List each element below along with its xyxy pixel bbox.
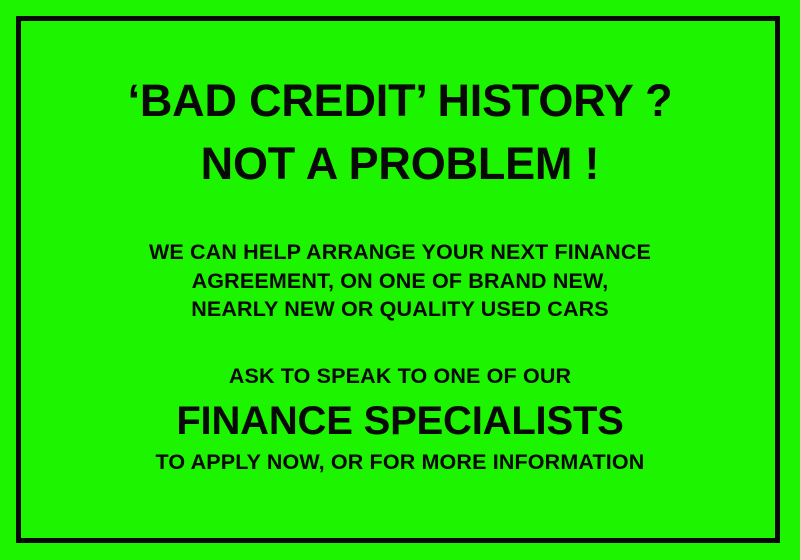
advertisement-poster: ‘BAD CREDIT’ HISTORY ? NOT A PROBLEM ! W… <box>0 0 800 560</box>
headline-line-2: NOT A PROBLEM ! <box>201 141 600 186</box>
body-line-2: AGREEMENT, ON ONE OF BRAND NEW, <box>192 271 609 293</box>
headline-line-1: ‘BAD CREDIT’ HISTORY ? <box>128 78 673 123</box>
body-line-3: NEARLY NEW OR QUALITY USED CARS <box>191 299 609 321</box>
cta-footer-text: TO APPLY NOW, OR FOR MORE INFORMATION <box>156 452 645 474</box>
cta-lead-text: ASK TO SPEAK TO ONE OF OUR <box>229 366 571 388</box>
poster-content: ‘BAD CREDIT’ HISTORY ? NOT A PROBLEM ! W… <box>0 0 800 560</box>
cta-headline: FINANCE SPECIALISTS <box>176 401 623 441</box>
body-line-1: WE CAN HELP ARRANGE YOUR NEXT FINANCE <box>149 242 651 264</box>
